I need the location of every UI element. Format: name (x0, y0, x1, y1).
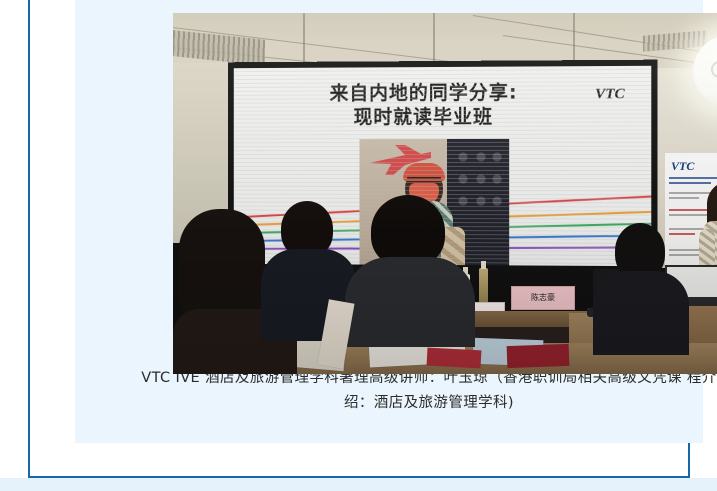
booklet (507, 344, 570, 368)
article-card: 来自内地的同学分享: 现时就读毕业班 VTC (28, 0, 690, 478)
article-panel: 来自内地的同学分享: 现时就读毕业班 VTC (75, 0, 703, 443)
audience-member (345, 195, 475, 345)
page-background-band (0, 478, 717, 491)
audience-member (593, 223, 689, 353)
booklet (427, 348, 482, 369)
vtc-logo-icon: VTC (595, 86, 625, 103)
page-root: 来自内地的同学分享: 现时就读毕业班 VTC (0, 0, 717, 491)
banner-logo-text: VTC (671, 159, 694, 174)
vtc-logo-text: VTC (595, 86, 625, 102)
slide-title-line-2: 现时就读毕业班 (275, 105, 574, 130)
name-plate: 陈志豪 (511, 286, 575, 310)
slide-title: 来自内地的同学分享: 现时就读毕业班 (275, 80, 574, 129)
lecture-hall-photo: 来自内地的同学分享: 现时就读毕业班 VTC (173, 13, 717, 374)
article-figure[interactable]: 来自内地的同学分享: 现时就读毕业班 VTC (173, 13, 717, 374)
slide-title-line-1: 来自内地的同学分享: (275, 80, 574, 105)
page-margin-left (0, 0, 28, 478)
